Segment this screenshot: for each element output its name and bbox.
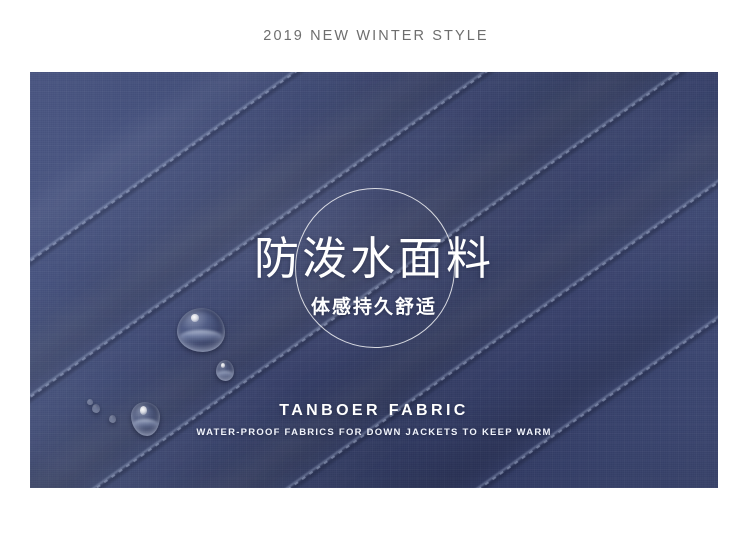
hero-banner-image: 防泼水面料 体感持久舒适 TANBOER FABRIC WATER-PROOF … [30,72,718,488]
hero-subheadline: 体感持久舒适 [30,296,718,319]
hero-headline: 防泼水面料 [30,235,718,282]
hero-brand-line: TANBOER FABRIC [30,402,718,420]
water-droplet-small [216,360,234,381]
page-root: 2019 NEW WINTER STYLE [0,0,750,536]
page-title: 2019 NEW WINTER STYLE [261,29,488,44]
hero-tagline: WATER-PROOF FABRICS FOR DOWN JACKETS TO … [30,428,718,438]
header-bar: 2019 NEW WINTER STYLE [0,0,750,72]
